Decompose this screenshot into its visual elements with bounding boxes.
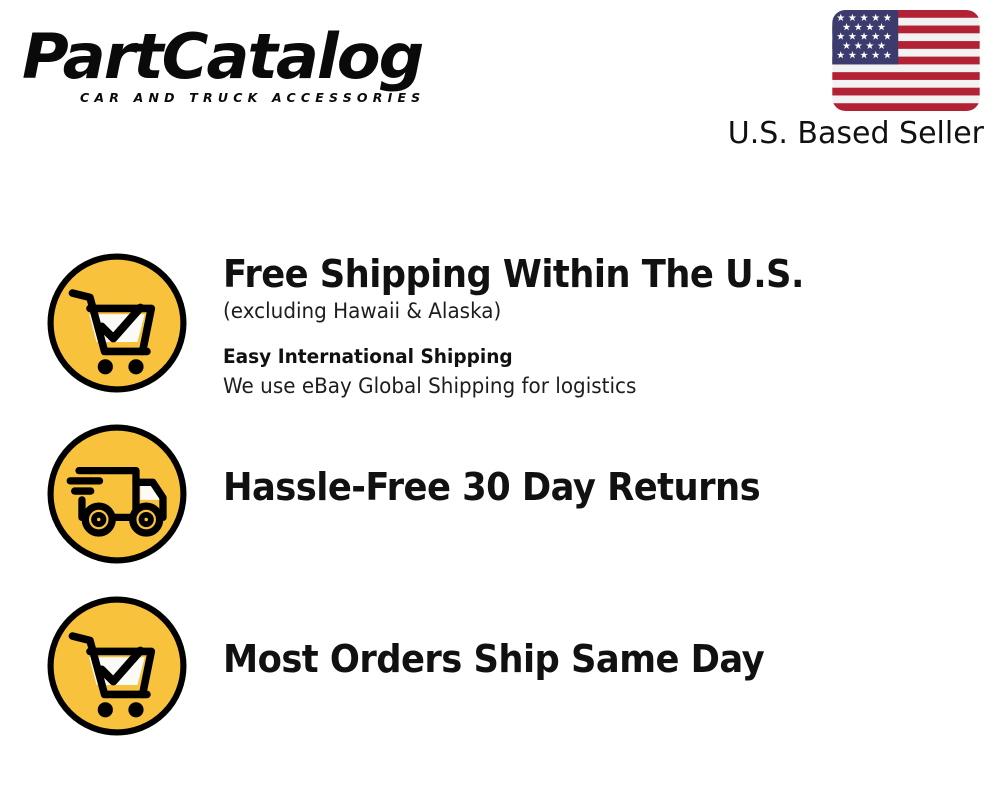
feature-row: Free Shipping Within The U.S. (excluding… bbox=[44, 250, 984, 401]
us-based-seller-badge: U.S. Based Seller bbox=[716, 10, 986, 151]
partcatalog-logo[interactable]: PartCatalog CAR AND TRUCK ACCESSORIES bbox=[22, 26, 492, 114]
feature-row: Most Orders Ship Same Day bbox=[44, 593, 984, 739]
brand-wordmark: PartCatalog bbox=[22, 26, 506, 88]
delivery-truck-icon bbox=[44, 421, 190, 567]
us-based-seller-label: U.S. Based Seller bbox=[716, 117, 984, 151]
feature-heading: Free Shipping Within The U.S. bbox=[223, 252, 931, 296]
feature-text-block: Hassle-Free 30 Day Returns bbox=[190, 421, 984, 509]
feature-text-block: Most Orders Ship Same Day bbox=[190, 593, 984, 681]
page-header: PartCatalog CAR AND TRUCK ACCESSORIES bbox=[0, 0, 1000, 165]
feature-secondary-subtext: We use eBay Global Shipping for logistic… bbox=[223, 371, 946, 401]
us-flag-icon bbox=[832, 10, 980, 111]
cart-check-icon bbox=[44, 250, 190, 396]
feature-subtext: (excluding Hawaii & Alaska) bbox=[223, 296, 946, 326]
feature-row: Hassle-Free 30 Day Returns bbox=[44, 421, 984, 567]
feature-secondary-heading: Easy International Shipping bbox=[223, 342, 946, 371]
cart-check-icon bbox=[44, 593, 190, 739]
feature-heading: Most Orders Ship Same Day bbox=[223, 637, 931, 681]
brand-tagline: CAR AND TRUCK ACCESSORIES bbox=[80, 90, 425, 105]
feature-heading: Hassle-Free 30 Day Returns bbox=[223, 465, 931, 509]
feature-text-block: Free Shipping Within The U.S. (excluding… bbox=[190, 250, 984, 401]
